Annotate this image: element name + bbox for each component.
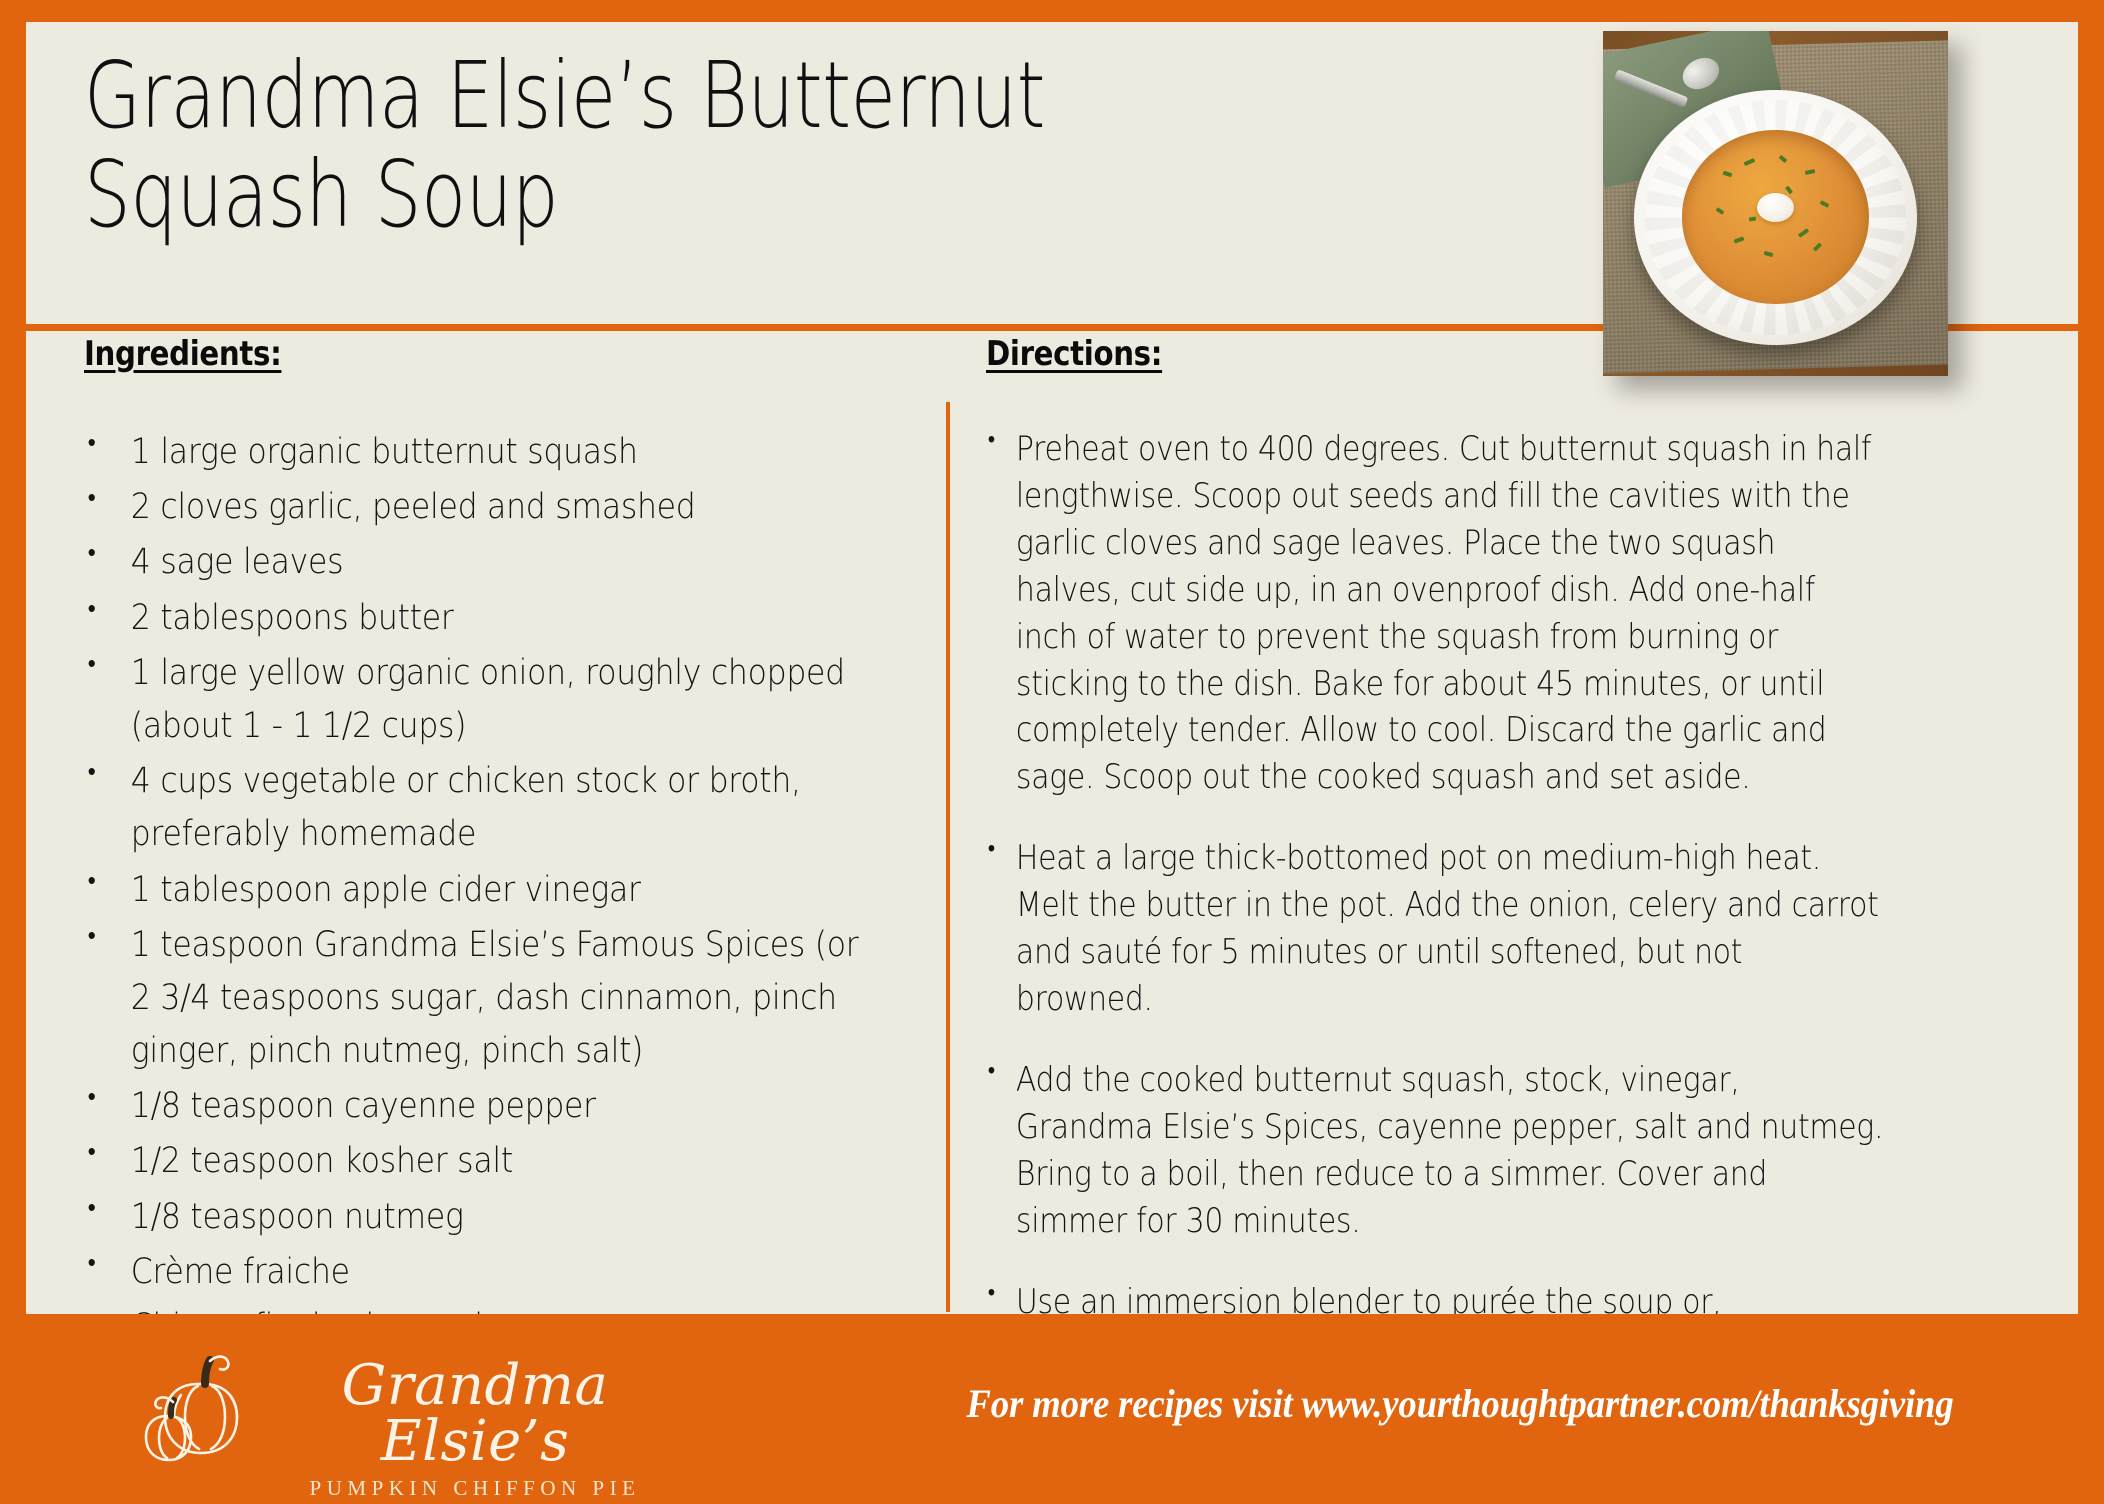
chive-fleck: [1805, 169, 1816, 175]
list-item: 1 large organic butternut squash: [84, 426, 876, 479]
list-item: Heat a large thick-bottomed pot on mediu…: [986, 835, 1884, 1023]
ingredients-heading: Ingredients:: [84, 334, 841, 374]
list-item: 1/8 teaspoon cayenne pepper: [84, 1080, 876, 1133]
list-item: Crème fraiche: [84, 1246, 876, 1299]
list-item: 2 cloves garlic, peeled and smashed: [84, 481, 876, 534]
brand-name: Grandma Elsie’s: [290, 1358, 660, 1470]
pumpkin-icon: [140, 1350, 280, 1468]
creme-fraiche-dollop: [1757, 193, 1794, 223]
page-title: Grandma Elsie’s Butternut Squash Soup: [84, 46, 1140, 245]
chive-fleck: [1723, 171, 1733, 178]
list-item: 1/8 teaspoon nutmeg: [84, 1191, 876, 1244]
soup-surface: [1682, 130, 1869, 304]
directions-heading: Directions:: [986, 334, 1863, 374]
chive-fleck: [1779, 154, 1788, 162]
soup-photo-image: [1603, 31, 1948, 376]
list-item: 1 teaspoon Grandma Elsie’s Famous Spices…: [84, 919, 876, 1079]
chive-fleck: [1764, 251, 1774, 257]
card-footer: Grandma Elsie’s PUMPKIN CHIFFON PIE For …: [0, 1314, 2104, 1504]
chive-fleck: [1715, 207, 1724, 215]
soup-photo: [1603, 31, 1948, 376]
recipe-sheet: Grandma Elsie’s Butternut Squash Soup: [26, 22, 2078, 1482]
chive-fleck: [1820, 200, 1830, 208]
chive-fleck: [1813, 242, 1822, 251]
list-item: 1/2 teaspoon kosher salt: [84, 1135, 876, 1188]
list-item: 1 tablespoon apple cider vinegar: [84, 864, 876, 917]
ingredients-list: 1 large organic butternut squash 2 clove…: [84, 426, 964, 1354]
list-item: 1 large yellow organic onion, roughly ch…: [84, 647, 876, 753]
list-item: 4 sage leaves: [84, 536, 876, 589]
footer-tagline: For more recipes visit www.yourthoughtpa…: [926, 1380, 1993, 1427]
brand-logo-text: Grandma Elsie’s PUMPKIN CHIFFON PIE: [290, 1358, 660, 1501]
soup-plate: [1634, 90, 1917, 345]
recipe-card: Grandma Elsie’s Butternut Squash Soup: [0, 0, 2104, 1504]
list-item: 4 cups vegetable or chicken stock or bro…: [84, 755, 876, 861]
list-item: Add the cooked butternut squash, stock, …: [986, 1057, 1884, 1245]
brand-tagline: PUMPKIN CHIFFON PIE: [290, 1476, 660, 1501]
chive-fleck: [1749, 217, 1756, 222]
chive-fleck: [1798, 228, 1809, 238]
chive-fleck: [1785, 185, 1793, 194]
ingredients-column: Ingredients: 1 large organic butternut s…: [84, 334, 964, 1356]
chive-fleck: [1734, 237, 1745, 244]
brand-logo: Grandma Elsie’s PUMPKIN CHIFFON PIE: [140, 1350, 660, 1470]
list-item: 2 tablespoons butter: [84, 592, 876, 645]
list-item: Preheat oven to 400 degrees. Cut buttern…: [986, 426, 1884, 801]
card-body: Ingredients: 1 large organic butternut s…: [26, 334, 2078, 1292]
chive-fleck: [1743, 158, 1755, 166]
